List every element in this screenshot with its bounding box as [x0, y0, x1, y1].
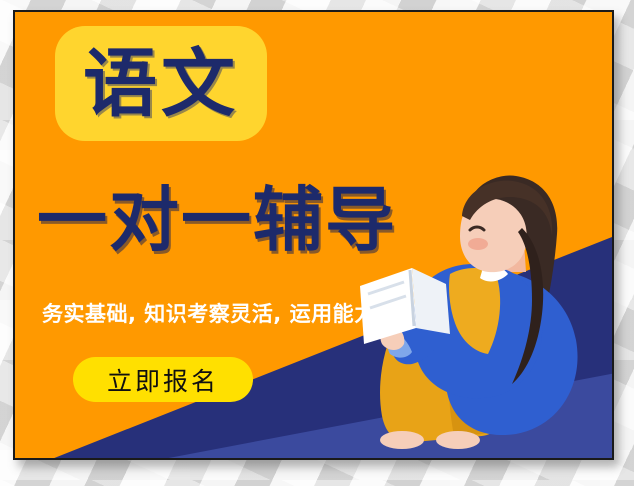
subject-badge-label: 语文 — [83, 47, 239, 121]
woman-reading-book-illustration — [354, 168, 604, 458]
page-background: 语文 一对一辅导 务实基础, 知识考察灵活, 运用能力提升 立即报名 — [0, 0, 634, 486]
left-foot-shape — [380, 431, 424, 449]
promo-banner: 语文 一对一辅导 务实基础, 知识考察灵活, 运用能力提升 立即报名 — [13, 10, 614, 460]
headline: 一对一辅导 — [37, 184, 397, 258]
enroll-now-button[interactable]: 立即报名 — [73, 357, 253, 402]
subject-badge: 语文 — [55, 26, 267, 141]
right-foot-shape — [436, 431, 480, 449]
blush-shape — [468, 238, 488, 250]
